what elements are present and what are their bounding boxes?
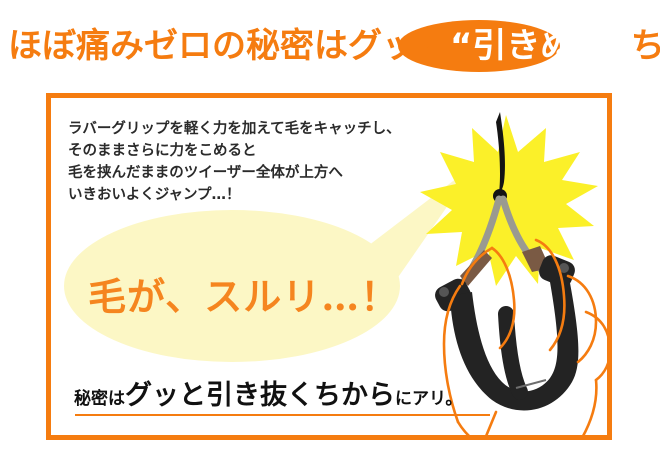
hand-palm-left: [458, 422, 482, 440]
caption-prefix: 秘密は: [74, 389, 125, 409]
body-line-4: いきおいよくジャンプ…！: [68, 184, 448, 206]
body-line-3: 毛を挟んだままのツイーザー全体が上方へ: [68, 162, 448, 184]
caption-emphasis: グッと引き抜くちから: [125, 380, 395, 411]
tweezer-left-screw: [439, 287, 449, 297]
body-line-2: そのままさらに力をこめると: [68, 140, 448, 162]
bottom-caption: 秘密はグッと引き抜くちからにアリ。: [74, 381, 462, 411]
caption-suffix: にアリ。: [395, 389, 462, 409]
hand-wrist-left-edge: [482, 412, 496, 440]
body-paragraph: ラバーグリップを軽く力を加えて毛をキャッチし、 そのままさらに力をこめると 毛を…: [68, 118, 448, 206]
headline-text: ほぼ痛みゼロの秘密はグッと“引きぬく”ちから。: [8, 18, 660, 74]
headline-text-highlight: “引きぬく”: [450, 26, 631, 66]
headline: ほぼ痛みゼロの秘密はグッと“引きぬく”ちから。: [0, 18, 660, 74]
headline-text-before: ほぼ痛みゼロの秘密はグッと: [8, 26, 450, 66]
advertisement-page: ほぼ痛みゼロの秘密はグッと“引きぬく”ちから。 ラバーグリップを軽く力を加えて毛…: [0, 0, 660, 455]
hand-palm-right: [582, 380, 596, 438]
headline-text-after: ちから。: [631, 26, 660, 66]
caption-underline: [75, 414, 490, 416]
speech-bubble-text: 毛が、スルリ…！: [88, 272, 388, 322]
body-line-1: ラバーグリップを軽く力を加えて毛をキャッチし、: [68, 118, 448, 140]
